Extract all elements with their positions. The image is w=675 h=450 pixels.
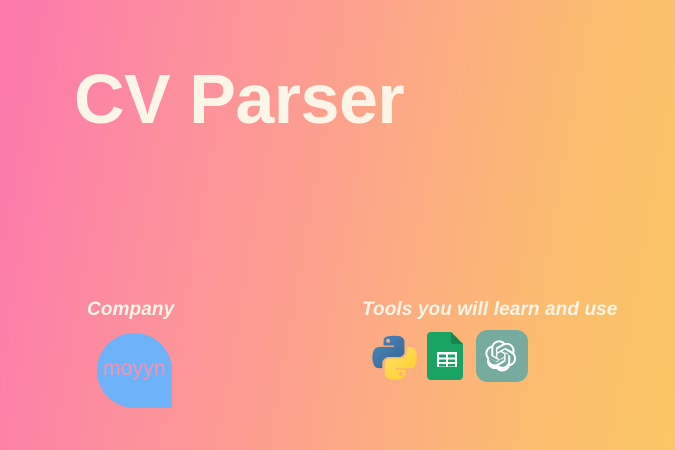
tools-icon-row	[370, 330, 528, 382]
company-section-heading: Company	[87, 299, 174, 321]
google-sheets-icon	[427, 332, 467, 380]
moyyn-logo: moyyn	[97, 333, 172, 408]
page-title: CV Parser	[74, 64, 404, 134]
moyyn-wordmark: moyyn	[103, 358, 166, 379]
slide-canvas: CV Parser Company moyyn Tools you will l…	[0, 0, 675, 450]
python-icon	[370, 332, 418, 380]
company-logo-block: moyyn	[97, 333, 172, 408]
chatgpt-icon	[476, 330, 528, 382]
tools-section-heading: Tools you will learn and use	[362, 299, 617, 321]
